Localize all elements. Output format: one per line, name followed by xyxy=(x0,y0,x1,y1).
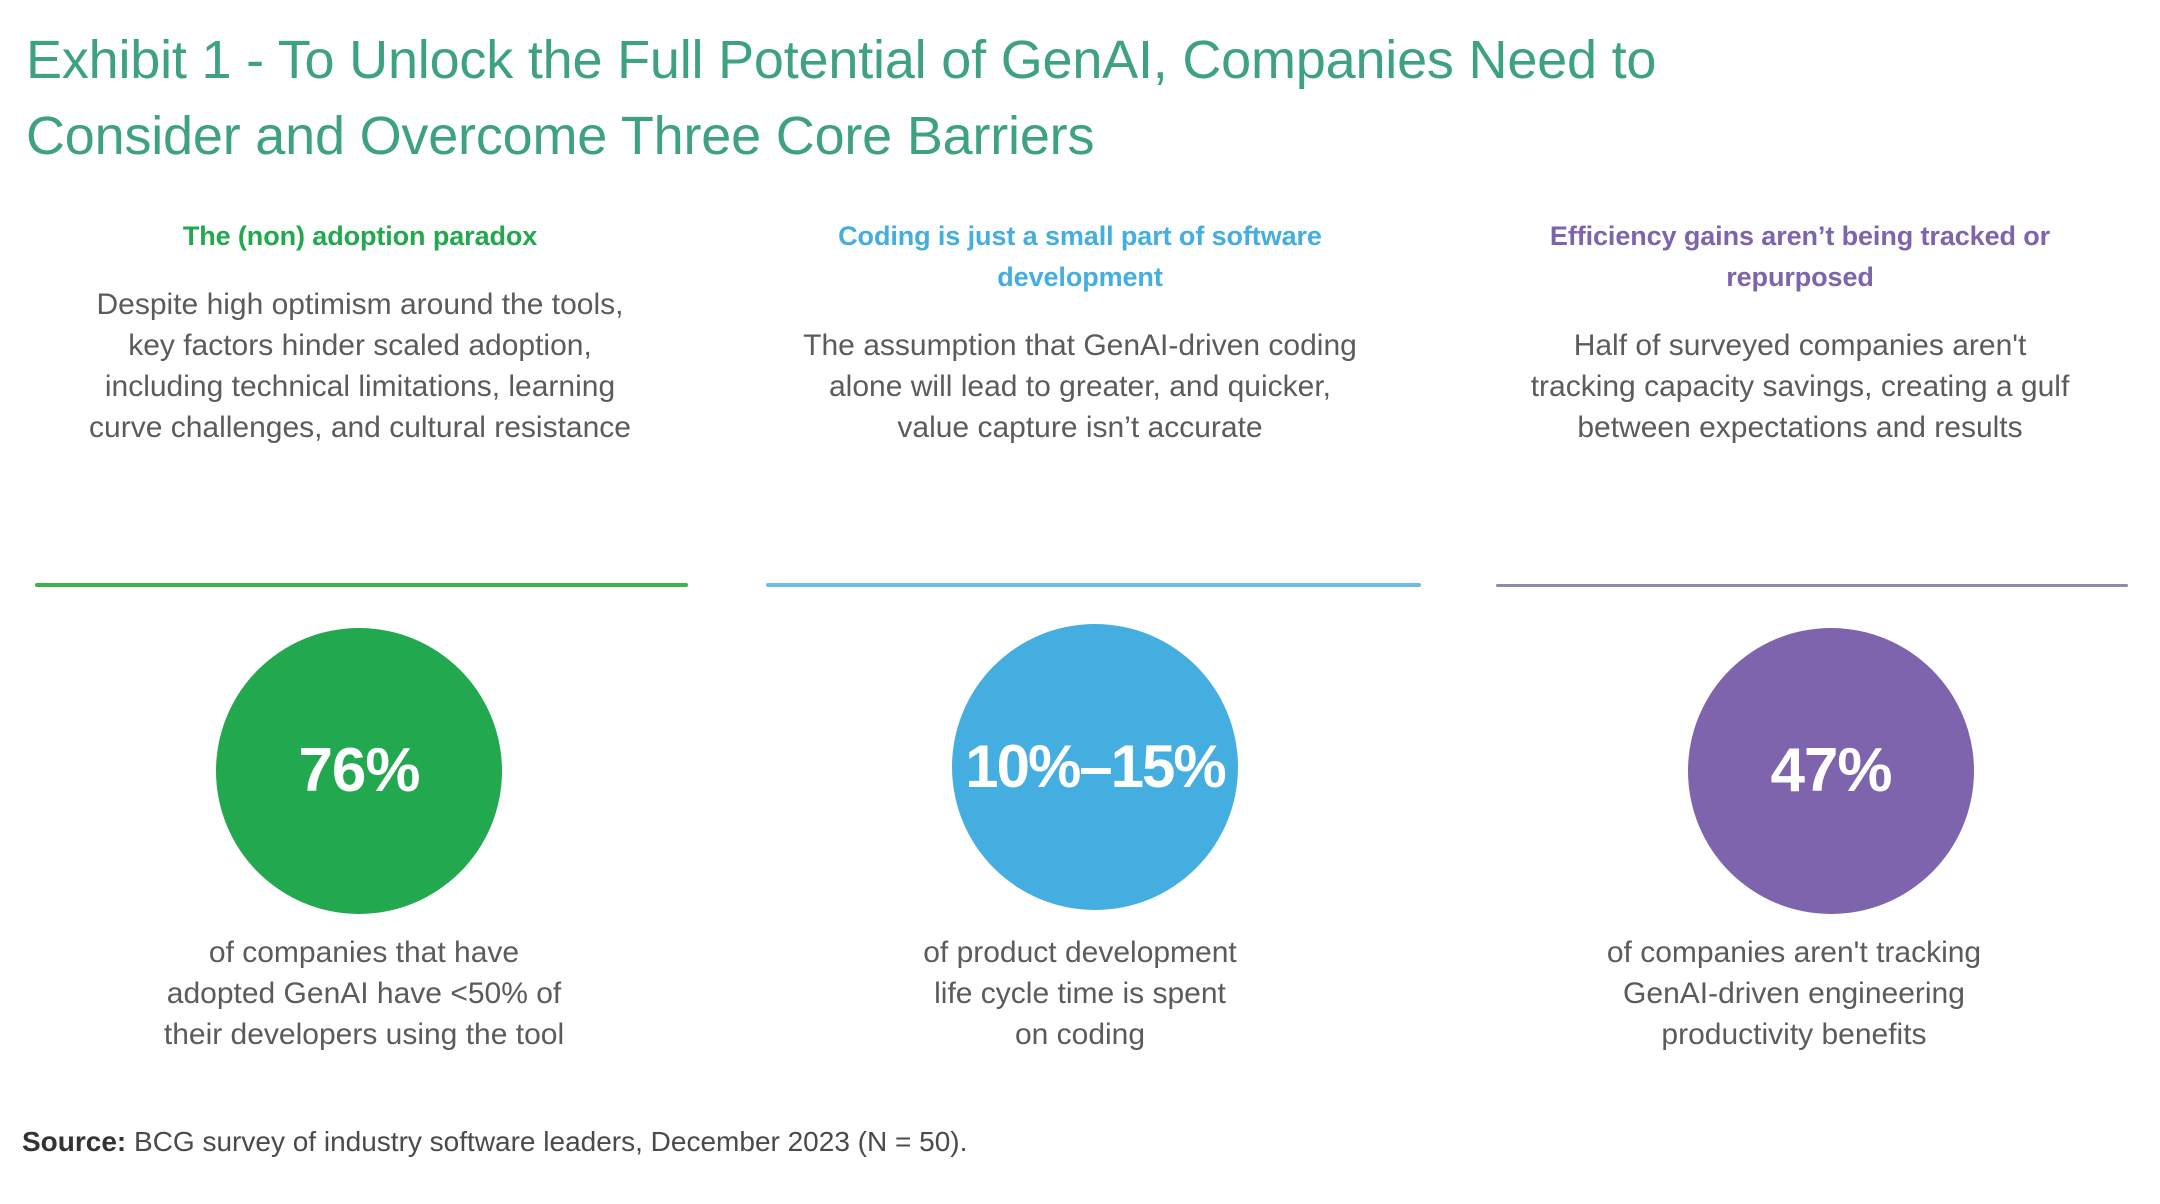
column-heading: Coding is just a small part of software … xyxy=(800,216,1360,298)
stat-caption: of companies that have adopted GenAI hav… xyxy=(0,932,720,1055)
barrier-column-adoption-paradox: The (non) adoption paradox Despite high … xyxy=(0,216,720,448)
divider-rule-blue xyxy=(766,583,1421,587)
stat-caption: of product development life cycle time i… xyxy=(720,932,1440,1055)
barrier-column-coding-small-part: Coding is just a small part of software … xyxy=(720,216,1440,448)
barrier-column-efficiency-gains: Efficiency gains aren’t being tracked or… xyxy=(1440,216,2160,448)
exhibit-slide: Exhibit 1 - To Unlock the Full Potential… xyxy=(0,0,2160,1204)
column-body-text: Half of surveyed companies aren't tracki… xyxy=(1480,325,2120,448)
stat-caption: of companies aren't tracking GenAI-drive… xyxy=(1440,932,2160,1055)
source-note: Source: BCG survey of industry software … xyxy=(22,1124,967,1160)
column-body-text: Despite high optimism around the tools, … xyxy=(30,284,690,448)
column-heading: Efficiency gains aren’t being tracked or… xyxy=(1520,216,2080,298)
stat-value: 47% xyxy=(1770,740,1891,802)
divider-rule-purple xyxy=(1496,584,2128,587)
source-text: BCG survey of industry software leaders,… xyxy=(126,1126,967,1157)
column-body-text: The assumption that GenAI-driven coding … xyxy=(750,325,1410,448)
source-label: Source: xyxy=(22,1126,126,1157)
stat-circle-efficiency: 47% xyxy=(1688,628,1974,914)
stat-value: 76% xyxy=(298,740,419,802)
stat-circle-adoption: 76% xyxy=(216,628,502,914)
stat-captions: of companies that have adopted GenAI hav… xyxy=(0,932,2160,1055)
column-heading: The (non) adoption paradox xyxy=(80,216,640,257)
divider-rule-green xyxy=(35,583,688,587)
page-title: Exhibit 1 - To Unlock the Full Potential… xyxy=(26,22,2086,174)
stat-circle-coding: 10%–15% xyxy=(952,624,1238,910)
stat-circles: 76% 10%–15% 47% xyxy=(0,628,2160,928)
stat-value: 10%–15% xyxy=(965,736,1225,798)
barrier-columns: The (non) adoption paradox Despite high … xyxy=(0,216,2160,448)
